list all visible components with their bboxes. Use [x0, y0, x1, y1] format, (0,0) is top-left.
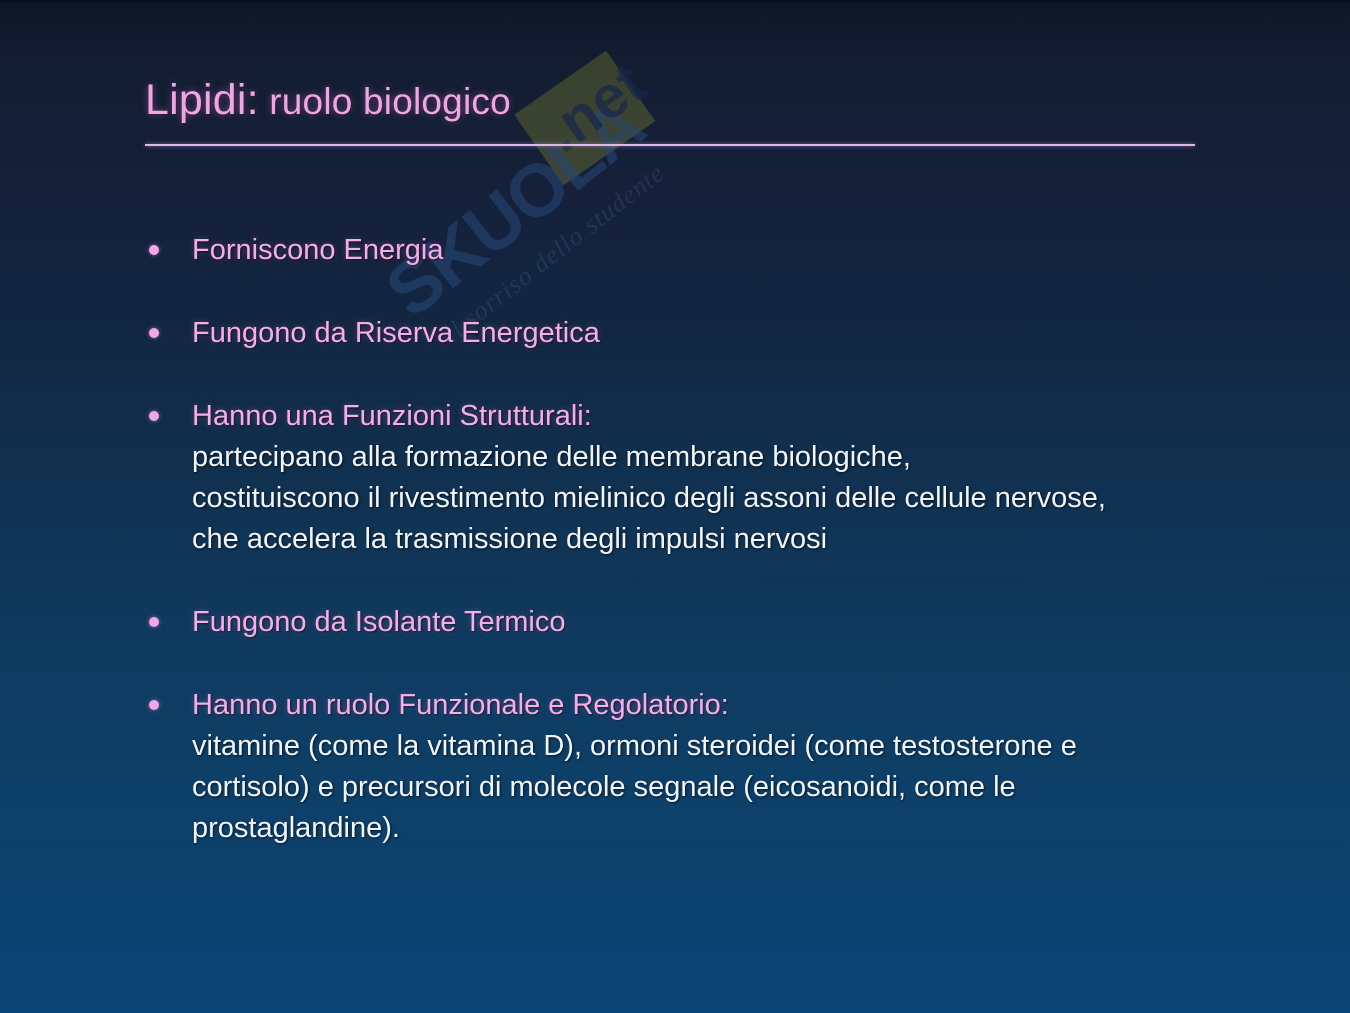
top-edge-strip [0, 0, 1350, 3]
page-title-sub: ruolo biologico [259, 81, 511, 122]
bullet-detail-line: costituiscono il rivestimento mielinico … [192, 478, 1245, 519]
bullet-dot-icon [149, 700, 159, 710]
watermark-yellow-box [514, 51, 655, 186]
bullet-detail-line: che accelera la trasmissione degli impul… [192, 519, 1245, 560]
page-title-main: Lipidi: [145, 76, 259, 124]
watermark-net-label: .net [531, 48, 658, 166]
bullet-detail-line: prostaglandine). [192, 808, 1245, 849]
bullet-detail: partecipano alla formazione delle membra… [192, 437, 1245, 560]
list-item: Forniscono Energia [145, 230, 1245, 271]
list-item: Hanno una Funzioni Strutturali: partecip… [145, 396, 1245, 560]
bullet-dot-icon [149, 411, 159, 421]
bullet-detail-line: partecipano alla formazione delle membra… [192, 437, 1245, 478]
list-item: Fungono da Riserva Energetica [145, 313, 1245, 354]
bullet-dot-icon [149, 617, 159, 627]
bullet-dot-icon [149, 328, 159, 338]
list-item: Hanno un ruolo Funzionale e Regolatorio:… [145, 685, 1245, 849]
title-divider [145, 144, 1195, 146]
bullet-heading: Forniscono Energia [192, 230, 1245, 271]
bullet-heading: Fungono da Riserva Energetica [192, 313, 1245, 354]
list-item: Fungono da Isolante Termico [145, 602, 1245, 643]
bullet-dot-icon [149, 245, 159, 255]
bullet-heading: Fungono da Isolante Termico [192, 602, 1245, 643]
slide: SKUOLA .net il sorriso dello studente Li… [0, 0, 1350, 1013]
bullet-list: Forniscono Energia Fungono da Riserva En… [145, 230, 1245, 849]
bullet-detail: vitamine (come la vitamina D), ormoni st… [192, 726, 1245, 849]
bullet-heading: Hanno una Funzioni Strutturali: [192, 396, 1245, 437]
bottom-color-band [0, 930, 1350, 1013]
bullet-detail-line: cortisolo) e precursori di molecole segn… [192, 767, 1245, 808]
bullet-detail-line: vitamine (come la vitamina D), ormoni st… [192, 726, 1245, 767]
bullet-heading: Hanno un ruolo Funzionale e Regolatorio: [192, 685, 1245, 726]
page-title: Lipidi: ruolo biologico [145, 76, 511, 125]
